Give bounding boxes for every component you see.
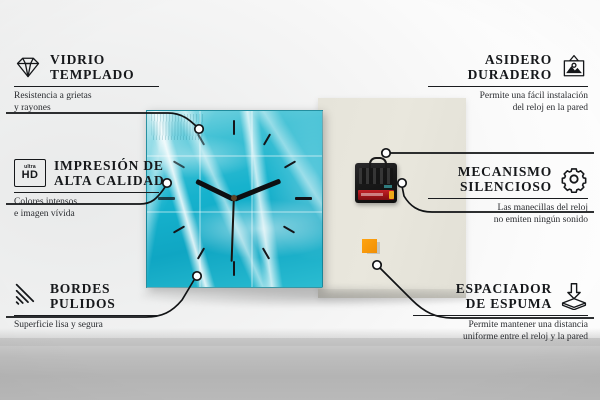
callout-title-line2: SILENCIOSO xyxy=(458,179,552,194)
callout-title-line1: BORDES xyxy=(50,281,116,296)
lead-dot-vidrio xyxy=(195,125,203,133)
callout-vidrio-templado[interactable]: VIDRIO TEMPLADO Resistencia a grietas y … xyxy=(14,52,159,114)
down-arrow-pad-icon xyxy=(560,282,588,310)
callout-rule xyxy=(14,192,159,193)
callout-impresion-alta-calidad[interactable]: ultra HD IMPRESIÓN DE ALTA CALIDAD Color… xyxy=(14,158,159,220)
callout-espaciador-de-espuma[interactable]: ESPACIADOR DE ESPUMA Permite mantener un… xyxy=(413,281,588,343)
callout-title-line2: DE ESPUMA xyxy=(456,296,552,311)
lead-dot-mecanismo xyxy=(398,179,406,187)
callout-description: Las manecillas del reloj no emiten ningú… xyxy=(428,203,588,226)
callout-asidero-duradero[interactable]: ASIDERO DURADERO Permite una fácil insta… xyxy=(428,52,588,114)
callout-title-line1: MECANISMO xyxy=(458,164,552,179)
callout-description: Resistencia a grietas y rayones xyxy=(14,91,159,114)
callout-title-line1: ESPACIADOR xyxy=(456,281,552,296)
callout-rule xyxy=(428,86,588,87)
ultra-hd-icon: ultra HD xyxy=(14,159,46,187)
callout-title-line1: IMPRESIÓN DE xyxy=(54,158,165,173)
callout-title-line2: DURADERO xyxy=(468,67,552,82)
diamond-icon xyxy=(14,53,42,81)
hanging-picture-frame-icon xyxy=(560,53,588,81)
diagonal-lines-icon xyxy=(14,282,42,310)
callout-title-line2: ALTA CALIDAD xyxy=(54,173,165,188)
callout-title-line2: TEMPLADO xyxy=(50,67,134,82)
callout-bordes-pulidos[interactable]: BORDES PULIDOS Superficie lisa y segura xyxy=(14,281,159,332)
callout-mecanismo-silencioso[interactable]: MECANISMO SILENCIOSO Las manecillas del … xyxy=(428,164,588,226)
callout-rule xyxy=(428,198,588,199)
callout-rule xyxy=(14,86,159,87)
callout-description: Permite una fácil instalación del reloj … xyxy=(428,91,588,114)
ultra-hd-icon-main: HD xyxy=(22,170,39,181)
gear-icon xyxy=(560,165,588,193)
lead-vidrio-templado xyxy=(6,113,198,128)
callout-description: Colores intensos e imagen vívida xyxy=(14,197,159,220)
callout-title-line2: PULIDOS xyxy=(50,296,116,311)
lead-dot-asidero xyxy=(382,149,390,157)
callout-description: Permite mantener una distancia uniforme … xyxy=(413,320,588,343)
lead-dot-bordes xyxy=(193,272,201,280)
callout-description: Superficie lisa y segura xyxy=(14,320,159,332)
callout-rule xyxy=(413,315,588,316)
lead-dot-espaciador xyxy=(373,261,381,269)
callout-title-line1: ASIDERO xyxy=(468,52,552,67)
callout-title-line1: VIDRIO xyxy=(50,52,134,67)
infographic-canvas: VIDRIO TEMPLADO Resistencia a grietas y … xyxy=(0,0,600,400)
callout-rule xyxy=(14,315,159,316)
